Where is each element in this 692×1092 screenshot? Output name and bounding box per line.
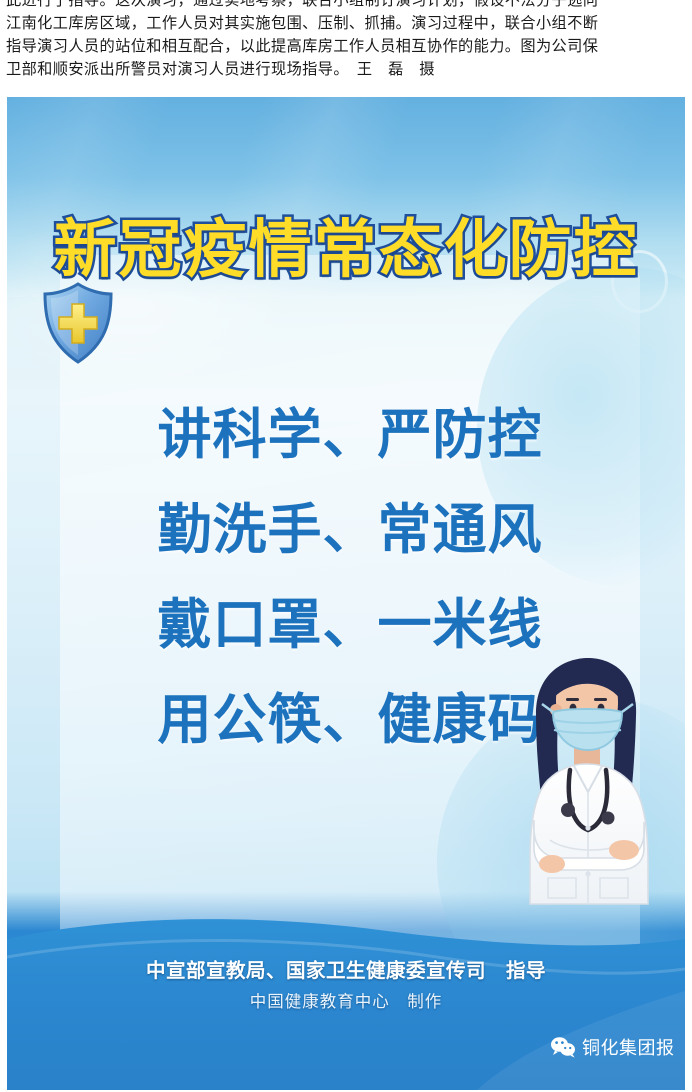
article-text-block: 此进行了指导。这次演习，通过实地考察，联合小组制订演习计划，假设不法分子逃向 江… [0, 0, 692, 95]
wechat-icon [550, 1036, 576, 1062]
watermark-label: 铜化集团报 [582, 1038, 675, 1060]
slogan-line: 讲科学、严防控 [60, 387, 640, 482]
shield-cross-icon [37, 278, 119, 370]
poster-title: 新冠疫情常态化防控 [54, 214, 639, 286]
article-line: 卫部和顺安派出所警员对演习人员进行现场指导。 王 磊 摄 [6, 58, 686, 81]
credit-production: 中国健康教育中心 制作 [7, 991, 685, 1013]
article-line: 此进行了指导。这次演习，通过实地考察，联合小组制订演习计划，假设不法分子逃向 [6, 0, 686, 12]
slogan-line: 勤洗手、常通风 [60, 482, 640, 577]
covid-prevention-poster: 新冠疫情常态化防控 讲科学、严防控 勤洗手、常通风 戴口罩、一米 [7, 97, 685, 1090]
credit-guidance: 中宣部宣教局、国家卫生健康委宣传司 指导 [7, 958, 685, 984]
female-doctor-illustration [496, 652, 676, 910]
article-line: 江南化工库房区域，工作人员对其实施包围、压制、抓捕。演习过程中，联合小组不断 [6, 12, 686, 35]
article-line: 指导演习人员的站位和相互配合，以此提高库房工作人员相互协作的能力。图为公司保 [6, 35, 686, 58]
footer-credits: 中宣部宣教局、国家卫生健康委宣传司 指导 中国健康教育中心 制作 [7, 958, 685, 1013]
poster-title-container: 新冠疫情常态化防控 [7, 214, 685, 286]
wechat-watermark: 铜化集团报 [550, 1036, 675, 1062]
